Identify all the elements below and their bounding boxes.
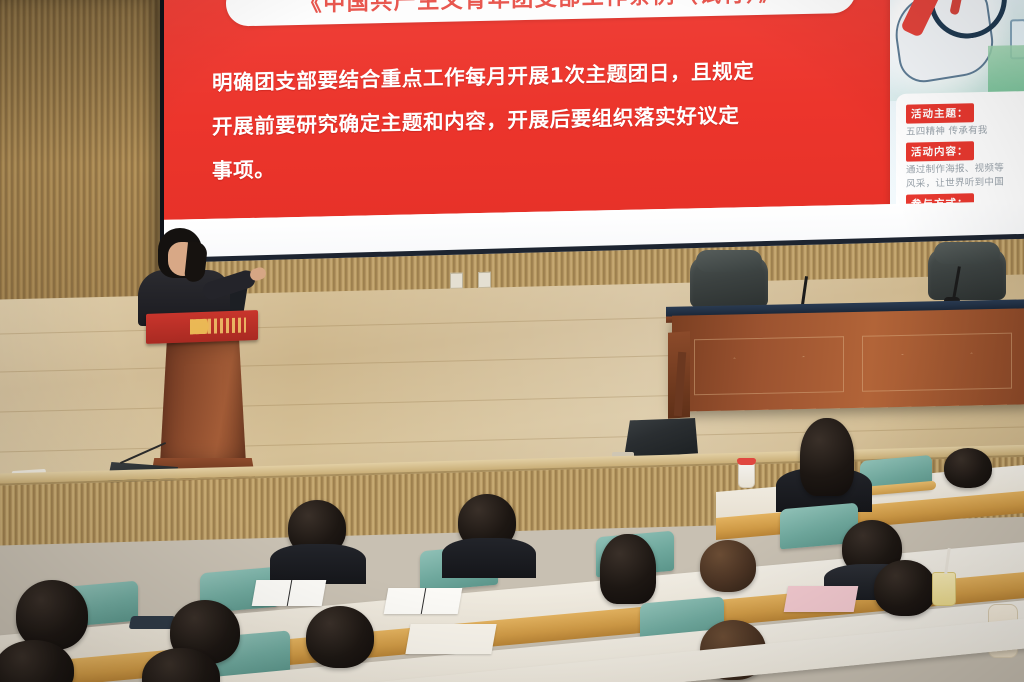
poster-text-content: 通过制作海报、视频等 风采，让世界听到中国 bbox=[906, 161, 1024, 192]
head-table bbox=[672, 308, 1024, 412]
screen-surface: 《中国共产主义青年团支部工作条例（试行）》 明确团支部要结合重点工作每月开展1次… bbox=[164, 0, 1024, 274]
papers-on-desk-c1 bbox=[405, 624, 496, 654]
phone-on-desk-b bbox=[129, 616, 176, 629]
head-table-zigzag-right bbox=[875, 352, 999, 381]
notebook-spine bbox=[421, 588, 427, 614]
head-table-panel-left bbox=[694, 336, 844, 395]
presenter-person bbox=[132, 228, 242, 320]
poster-illustration bbox=[890, 0, 1024, 101]
audience-shoulders-b1 bbox=[270, 544, 366, 584]
chair-headrest bbox=[696, 250, 762, 272]
poster-heading-theme: 活动主题： bbox=[906, 103, 974, 123]
slide-title-pill: 《中国共产主义青年团支部工作条例（试行）》 bbox=[226, 0, 856, 27]
wall-plate-1 bbox=[450, 273, 463, 289]
head-table-zigzag-left bbox=[707, 355, 831, 384]
notebook-b1 bbox=[252, 580, 327, 606]
presentation-slide: 《中国共产主义青年团支部工作条例（试行）》 明确团支部要结合重点工作每月开展1次… bbox=[164, 0, 1024, 220]
poster-heading-content: 活动内容： bbox=[906, 141, 974, 161]
drink-cup-a1-lid bbox=[737, 458, 756, 465]
slide-body-text: 明确团支部要结合重点工作每月开展1次主题团日，且规定 开展前要研究确定主题和内容… bbox=[212, 46, 876, 192]
head-table-panel-right bbox=[862, 333, 1012, 392]
drink-cup-a1 bbox=[738, 462, 755, 488]
audience-head-c5 bbox=[874, 560, 936, 616]
notebook-b2 bbox=[384, 588, 463, 614]
podium-body bbox=[160, 340, 246, 464]
lecture-hall-photo: 《中国共产主义青年团支部工作条例（试行）》 明确团支部要结合重点工作每月开展1次… bbox=[0, 0, 1024, 682]
audience-head-a1 bbox=[800, 418, 854, 496]
papers-on-desk-c2 bbox=[784, 586, 859, 612]
poster-text-theme: 五四精神 传承有我 bbox=[906, 123, 1024, 140]
audience-shoulders-b2 bbox=[442, 538, 536, 578]
podium-red-banner bbox=[146, 310, 258, 344]
floor-monitor-speaker-right bbox=[624, 418, 698, 458]
university-emblem-icon bbox=[190, 317, 246, 334]
audience-head-a2 bbox=[944, 448, 992, 488]
wall-plate-2 bbox=[478, 272, 491, 288]
podium bbox=[140, 312, 258, 490]
chair-headrest bbox=[934, 242, 1000, 264]
notebook-spine bbox=[287, 580, 293, 606]
drink-cup-c1 bbox=[932, 572, 956, 606]
audience-head-c3 bbox=[306, 606, 374, 668]
slide-title: 《中国共产主义青年团支部工作条例（试行）》 bbox=[300, 0, 783, 18]
audience-head-b4 bbox=[700, 540, 756, 592]
audience-head-b3 bbox=[600, 534, 656, 604]
